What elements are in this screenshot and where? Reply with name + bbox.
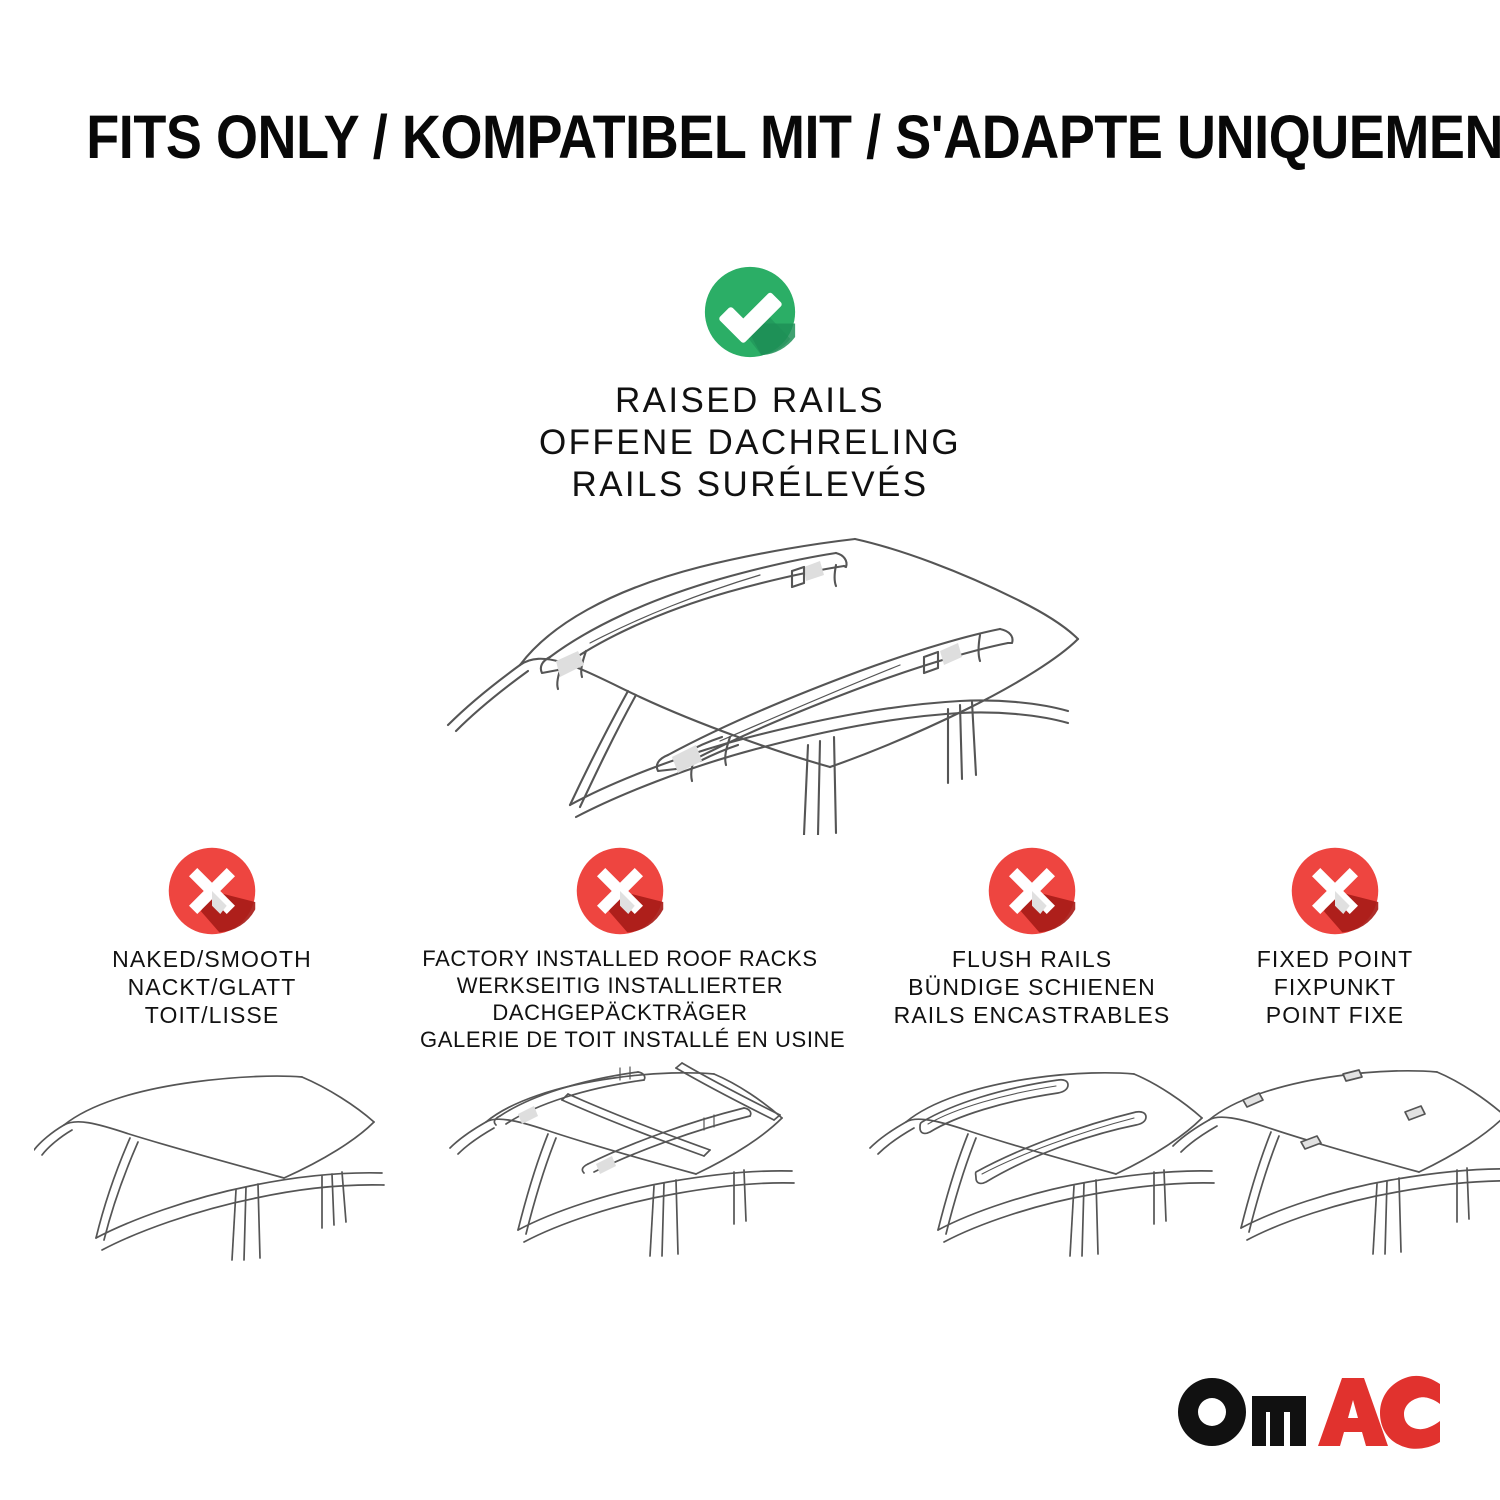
compatible-label-line-de: OFFENE DACHRELING (350, 422, 1150, 464)
compatible-label: RAISED RAILS OFFENE DACHRELING RAILS SUR… (350, 380, 1150, 506)
incompatible-label: FACTORY INSTALLED ROOF RACKS WERKSEITIG … (420, 945, 820, 1053)
label-line-en: FACTORY INSTALLED ROOF RACKS (420, 945, 820, 972)
label-line-de: FIXPUNKT (1135, 973, 1500, 1001)
car-roof-naked-smooth-illustration (34, 1060, 394, 1275)
incompatible-label: FIXED POINT FIXPUNKT POINT FIXE (1135, 945, 1500, 1029)
label-line-en: FIXED POINT (1135, 945, 1500, 973)
incompatible-label: NAKED/SMOOTH NACKT/GLATT TOIT/LISSE (12, 945, 412, 1029)
label-line-fr: GALERIE DE TOIT INSTALLÉ EN USINE (420, 1026, 820, 1053)
x-circle-icon (986, 845, 1078, 937)
car-roof-fixed-point-illustration (1165, 1060, 1500, 1275)
label-line-de-2: DACHGEPÄCKTRÄGER (420, 999, 820, 1026)
car-roof-raised-rails-illustration (400, 505, 1100, 835)
x-circle-icon (166, 845, 258, 937)
x-circle-icon (574, 845, 666, 937)
compatible-label-line-fr: RAILS SURÉLEVÉS (350, 464, 1150, 506)
x-circle-icon (1289, 845, 1381, 937)
label-line-de-1: WERKSEITIG INSTALLIERTER (420, 972, 820, 999)
compatible-label-line-en: RAISED RAILS (350, 380, 1150, 422)
label-line-fr: TOIT/LISSE (12, 1001, 412, 1029)
label-line-de: NACKT/GLATT (12, 973, 412, 1001)
label-line-fr: POINT FIXE (1135, 1001, 1500, 1029)
check-circle-icon (702, 264, 798, 360)
page-title: FITS ONLY / KOMPATIBEL MIT / S'ADAPTE UN… (86, 104, 1414, 170)
car-roof-factory-roof-racks-illustration (438, 1060, 798, 1275)
label-line-en: NAKED/SMOOTH (12, 945, 412, 973)
fitment-infographic: FITS ONLY / KOMPATIBEL MIT / S'ADAPTE UN… (0, 0, 1500, 1500)
omac-logo (1174, 1374, 1442, 1450)
